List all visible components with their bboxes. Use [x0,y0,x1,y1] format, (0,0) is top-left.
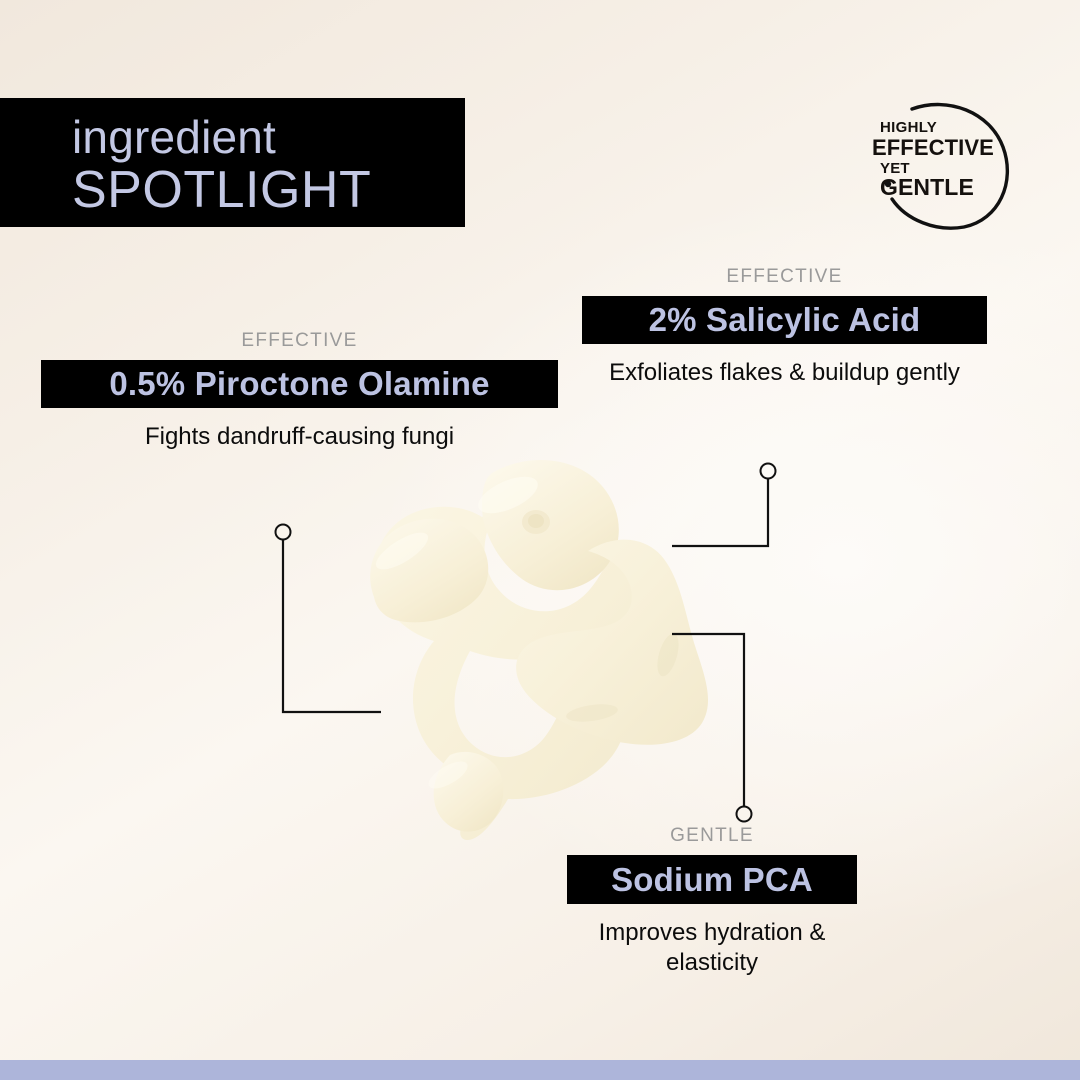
page-title-line-2: SPOTLIGHT [72,162,465,218]
callout-label-bar: 2% Salicylic Acid [582,296,987,344]
callout-eyebrow: EFFECTIVE [41,330,558,352]
leader-line-sodium [672,634,752,822]
callout-label-bar: 0.5% Piroctone Olamine [41,360,558,408]
badge-line-3: YET GENTLE [872,161,1002,199]
callout-salicylic-acid: EFFECTIVE 2% Salicylic Acid Exfoliates f… [582,266,987,388]
title-block: ingredient SPOTLIGHT [0,98,465,227]
infographic-canvas: ingredient SPOTLIGHT HIGHLY EFFECTIVE YE… [0,0,1080,1080]
callout-eyebrow: EFFECTIVE [582,266,987,288]
badge-line-3-big: GENTLE [880,174,974,200]
badge-line-2: EFFECTIVE [872,137,1002,159]
leader-line-salicylic [672,464,776,547]
callout-description: Improves hydration & elasticity [567,918,857,978]
callout-label-bar: Sodium PCA [567,855,857,904]
callout-description: Exfoliates flakes & buildup gently [582,358,987,388]
badge-line-1: HIGHLY [872,120,1002,135]
callout-piroctone-olamine: EFFECTIVE 0.5% Piroctone Olamine Fights … [41,330,558,452]
badge-text: HIGHLY EFFECTIVE YET GENTLE [872,120,1002,199]
callout-description: Fights dandruff-causing fungi [41,422,558,452]
leader-line-piroctone [276,525,382,713]
page-title-line-1: ingredient [72,112,465,162]
callout-eyebrow: GENTLE [567,825,857,847]
highly-effective-yet-gentle-badge: HIGHLY EFFECTIVE YET GENTLE [866,100,1018,230]
callout-sodium-pca: GENTLE Sodium PCA Improves hydration & e… [567,825,857,978]
bottom-accent-bar [0,1060,1080,1080]
